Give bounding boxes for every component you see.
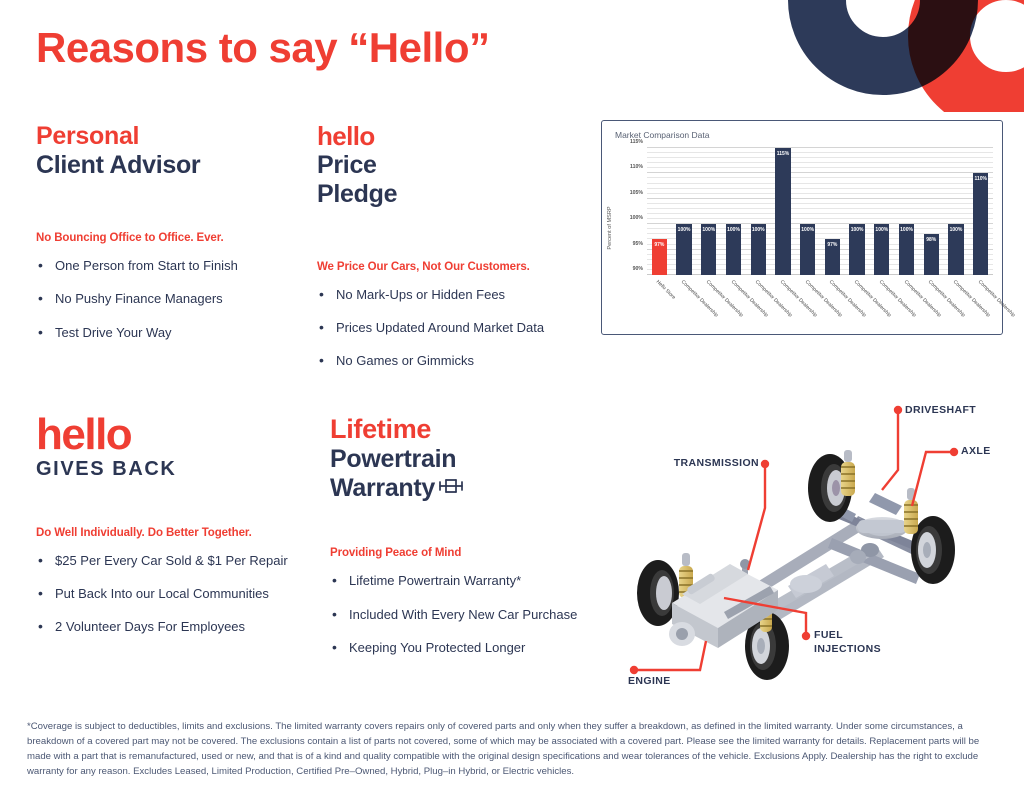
list-item: 2 Volunteer Days For Employees: [36, 619, 316, 635]
warranty-heading-line1: Lifetime: [330, 414, 605, 445]
section-personal-client-advisor: Personal Client Advisor No Bouncing Offi…: [36, 122, 306, 358]
personal-heading-line1: Personal: [36, 122, 306, 151]
chart-bar: 100%: [800, 224, 815, 275]
hello-logo-wordmark: hello: [317, 122, 592, 151]
list-item: No Games or Gimmicks: [317, 353, 592, 369]
navy-ring-shape: [788, 0, 978, 95]
chart-bar: 97%: [652, 239, 667, 275]
price-subhead: We Price Our Cars, Not Our Customers.: [317, 261, 592, 273]
chart-bar-slot: 100%Competitor Dealership: [696, 148, 721, 275]
chart-bar: 100%: [751, 224, 766, 275]
list-item: Included With Every New Car Purchase: [330, 607, 605, 623]
chart-bar-value-label: 97%: [825, 242, 840, 248]
chart-bar-slot: 98%Competitor Dealership: [919, 148, 944, 275]
chart-bar: 97%: [825, 239, 840, 275]
list-item: Put Back Into our Local Communities: [36, 586, 316, 602]
chart-bar-value-label: 100%: [899, 227, 914, 233]
chart-bar-value-label: 110%: [973, 176, 988, 182]
chart-bar-value-label: 100%: [726, 227, 741, 233]
chart-y-tick: 90%: [633, 266, 643, 272]
chart-bar-value-label: 100%: [948, 227, 963, 233]
chart-bar-slot: 100%Competitor Dealership: [721, 148, 746, 275]
market-comparison-chart-card: Market Comparison Data Percent of MSRP 9…: [601, 120, 1003, 335]
chart-bar-value-label: 100%: [800, 227, 815, 233]
chart-bar: 100%: [726, 224, 741, 275]
chart-bars: 97%Hello Store100%Competitor Dealership1…: [647, 148, 993, 275]
chart-bar-slot: 97%Competitor Dealership: [820, 148, 845, 275]
red-ring-shape: [908, 0, 1024, 112]
chart-bar: 98%: [924, 234, 939, 275]
gives-back-subhead: Do Well Individually. Do Better Together…: [36, 527, 316, 539]
hello-logo-wordmark-large: hello: [36, 414, 316, 456]
chart-bar-value-label: 100%: [701, 227, 716, 233]
chart-bar-value-label: 100%: [849, 227, 864, 233]
chart-bar: 100%: [701, 224, 716, 275]
gives-back-heading: GIVES BACK: [36, 458, 316, 481]
price-bullet-list: No Mark-Ups or Hidden Fees Prices Update…: [317, 287, 592, 370]
chart-bar: 110%: [973, 173, 988, 275]
chart-y-tick: 105%: [630, 190, 643, 196]
section-hello-gives-back: hello GIVES BACK Do Well Individually. D…: [36, 414, 316, 653]
list-item: Test Drive Your Way: [36, 325, 306, 341]
chart-bar-slot: 100%Competitor Dealership: [746, 148, 771, 275]
chart-bar: 100%: [874, 224, 889, 275]
powertrain-car-diagram: DRIVESHAFT AXLE TRANSMISSION FUEL INJECT…: [620, 398, 1010, 690]
chart-plot-area: 90%95%100%105%110%115% 97%Hello Store100…: [647, 148, 993, 275]
chart-bar-value-label: 115%: [775, 151, 790, 157]
chart-bar-slot: 100%Competitor Dealership: [944, 148, 969, 275]
chart-bar: 115%: [775, 148, 790, 275]
chart-bar-value-label: 98%: [924, 237, 939, 243]
chart-bar-slot: 115%Competitor Dealership: [771, 148, 796, 275]
list-item: One Person from Start to Finish: [36, 258, 306, 274]
legal-footnote: *Coverage is subject to deductibles, lim…: [27, 719, 997, 780]
chart-bar-value-label: 100%: [874, 227, 889, 233]
chart-y-tick: 95%: [633, 241, 643, 247]
warranty-heading-line3: Warranty: [330, 474, 435, 503]
personal-heading-line2: Client Advisor: [36, 151, 306, 180]
gives-back-bullet-list: $25 Per Every Car Sold & $1 Per Repair P…: [36, 553, 316, 636]
callout-label-driveshaft: DRIVESHAFT: [905, 404, 976, 416]
page-title: Reasons to say “Hello”: [36, 24, 489, 72]
list-item: Keeping You Protected Longer: [330, 640, 605, 656]
chart-bar: 100%: [899, 224, 914, 275]
chart-bar: 100%: [676, 224, 691, 275]
chart-y-tick: 110%: [630, 164, 643, 170]
chart-bar-slot: 100%Competitor Dealership: [845, 148, 870, 275]
chart-bar-slot: 100%Competitor Dealership: [869, 148, 894, 275]
list-item: Lifetime Powertrain Warranty*: [330, 573, 605, 589]
chart-y-axis-label: Percent of MSRP: [607, 206, 613, 249]
chart-bar-slot: 100%Competitor Dealership: [795, 148, 820, 275]
section-hello-price-pledge: hello Price Pledge We Price Our Cars, No…: [317, 122, 592, 386]
chart-bar-slot: 97%Hello Store: [647, 148, 672, 275]
axle-icon: [438, 478, 464, 499]
chart-y-tick: 115%: [630, 139, 643, 145]
list-item: No Pushy Finance Managers: [36, 291, 306, 307]
callout-label-transmission: TRANSMISSION: [669, 457, 759, 469]
warranty-subhead: Providing Peace of Mind: [330, 547, 605, 559]
chart-bar-value-label: 97%: [652, 242, 667, 248]
section-lifetime-powertrain-warranty: Lifetime Powertrain Warranty Providing P…: [330, 414, 605, 673]
price-heading-line3: Pledge: [317, 180, 592, 209]
list-item: No Mark-Ups or Hidden Fees: [317, 287, 592, 303]
list-item: $25 Per Every Car Sold & $1 Per Repair: [36, 553, 316, 569]
chart-bar-value-label: 100%: [676, 227, 691, 233]
callout-label-fuel: FUEL: [814, 629, 843, 641]
callout-label-injections: INJECTIONS: [814, 643, 881, 655]
warranty-bullet-list: Lifetime Powertrain Warranty* Included W…: [330, 573, 605, 656]
chart-bar-slot: 100%Competitor Dealership: [672, 148, 697, 275]
chart-bar-slot: 110%Competitor Dealership: [968, 148, 993, 275]
decorative-corner-rings: [780, 0, 1024, 112]
price-heading-line2: Price: [317, 151, 592, 180]
chart-bar: 100%: [849, 224, 864, 275]
callout-label-axle: AXLE: [961, 445, 991, 457]
chart-x-tick: Hello Store: [655, 279, 677, 301]
callout-label-engine: ENGINE: [628, 675, 671, 687]
personal-subhead: No Bouncing Office to Office. Ever.: [36, 232, 306, 244]
chart-bar-slot: 100%Competitor Dealership: [894, 148, 919, 275]
chart-bar: 100%: [948, 224, 963, 275]
warranty-heading-line2: Powertrain: [330, 445, 605, 474]
personal-bullet-list: One Person from Start to Finish No Pushy…: [36, 258, 306, 341]
chart-y-tick: 100%: [630, 215, 643, 221]
list-item: Prices Updated Around Market Data: [317, 320, 592, 336]
chart-bar-value-label: 100%: [751, 227, 766, 233]
